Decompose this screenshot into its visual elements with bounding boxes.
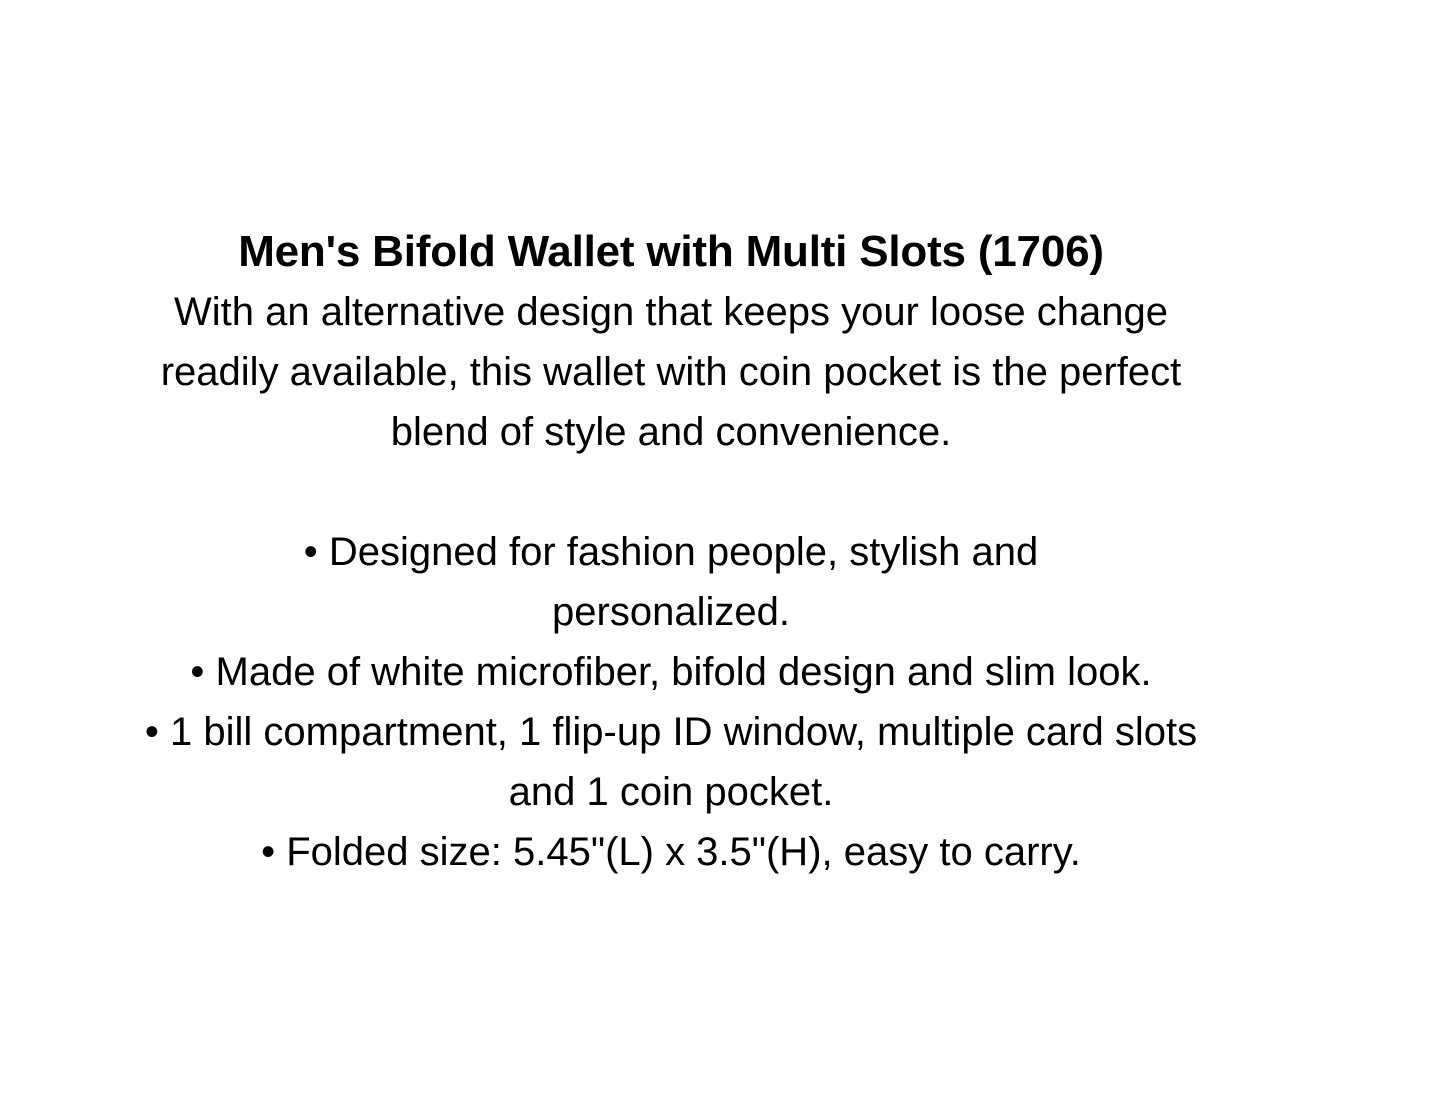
feature-text: • Folded size: 5.45"(L) x 3.5"(H), easy …: [48, 822, 1294, 882]
product-description-canvas: Men's Bifold Wallet with Multi Slots (17…: [0, 0, 1445, 1116]
list-item: • Folded size: 5.45"(L) x 3.5"(H), easy …: [48, 822, 1294, 882]
list-item: • 1 bill compartment, 1 flip-up ID windo…: [48, 702, 1294, 822]
list-item: • Designed for fashion people, stylish a…: [48, 522, 1294, 642]
product-feature-list: • Designed for fashion people, stylish a…: [48, 522, 1294, 882]
product-description-block: Men's Bifold Wallet with Multi Slots (17…: [48, 222, 1294, 882]
feature-text: • Designed for fashion people, stylish a…: [221, 522, 1121, 642]
feature-text: • Made of white microfiber, bifold desig…: [48, 642, 1294, 702]
list-item: • Made of white microfiber, bifold desig…: [48, 642, 1294, 702]
paragraph-spacer: [48, 462, 1294, 522]
page-title: Men's Bifold Wallet with Multi Slots (17…: [48, 222, 1294, 282]
feature-text: • 1 bill compartment, 1 flip-up ID windo…: [126, 702, 1216, 822]
product-description-paragraph: With an alternative design that keeps yo…: [48, 282, 1294, 462]
product-description-text: With an alternative design that keeps yo…: [111, 282, 1231, 462]
